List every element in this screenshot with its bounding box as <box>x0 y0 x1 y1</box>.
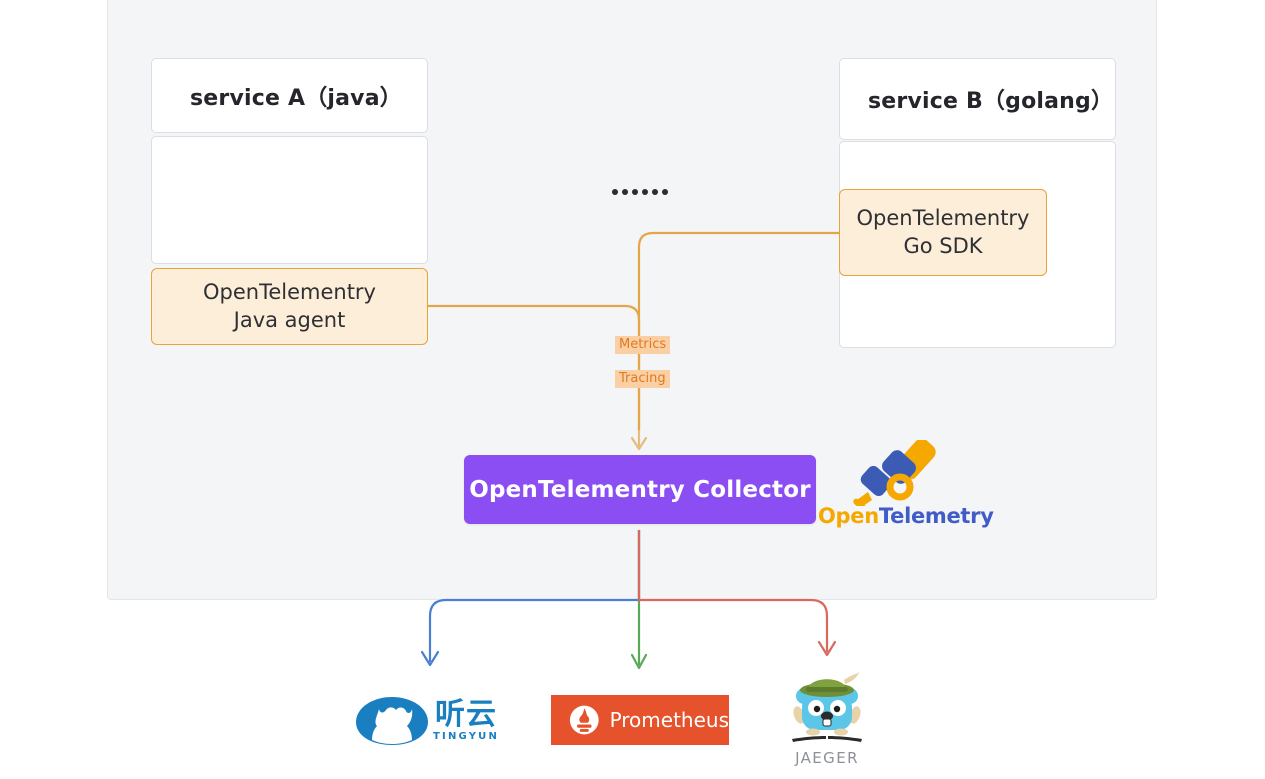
opentelemetry-java-agent: OpenTelementry Java agent <box>151 268 428 345</box>
go-sdk-line2: Go SDK <box>903 233 982 261</box>
arrowhead-prometheus <box>632 655 646 668</box>
wordmark-telemetry: Telemetry <box>879 504 994 528</box>
tingyun-cloud-icon <box>355 696 429 746</box>
tingyun-name-en: TINGYUN <box>433 730 499 743</box>
jaeger-gopher-icon <box>786 668 868 748</box>
jaeger-label: JAEGER <box>795 749 859 767</box>
service-a-header: service A（java） <box>151 58 428 133</box>
prometheus-label: Prometheus <box>610 708 729 732</box>
arrowhead-tingyun <box>422 652 438 665</box>
diagram-canvas: service A（java） OpenTelementry Java agen… <box>0 0 1265 779</box>
destination-prometheus: Prometheus <box>551 695 729 745</box>
collector-label: OpenTelementry Collector <box>469 477 811 503</box>
go-sdk-line1: OpenTelementry <box>856 205 1029 233</box>
service-a-body <box>151 136 428 264</box>
service-b-header: service B（golang） <box>839 58 1116 140</box>
wordmark-open: Open <box>818 504 879 528</box>
prometheus-torch-icon <box>569 703 600 737</box>
signal-label-tracing: Tracing <box>615 370 670 388</box>
service-b-title: service B（golang） <box>868 83 1113 115</box>
destination-jaeger: JAEGER <box>786 668 868 768</box>
service-a-title: service A（java） <box>190 80 402 112</box>
telescope-icon <box>818 440 974 506</box>
java-agent-line1: OpenTelementry <box>203 279 376 307</box>
arrowhead-jaeger <box>819 642 835 655</box>
destination-tingyun: 听云 TINGYUN <box>355 693 507 749</box>
tingyun-wordmark: 听云 TINGYUN <box>433 700 499 743</box>
opentelemetry-wordmark: OpenTelemetry <box>818 504 974 528</box>
opentelemetry-collector-box: OpenTelementry Collector <box>464 455 816 524</box>
java-agent-line2: Java agent <box>234 307 346 335</box>
more-services-ellipsis <box>612 180 668 204</box>
tingyun-name-cn: 听云 <box>435 700 497 730</box>
opentelemetry-logo: OpenTelemetry <box>818 440 974 532</box>
signal-label-metrics: Metrics <box>615 336 670 354</box>
opentelemetry-go-sdk: OpenTelementry Go SDK <box>839 189 1047 276</box>
